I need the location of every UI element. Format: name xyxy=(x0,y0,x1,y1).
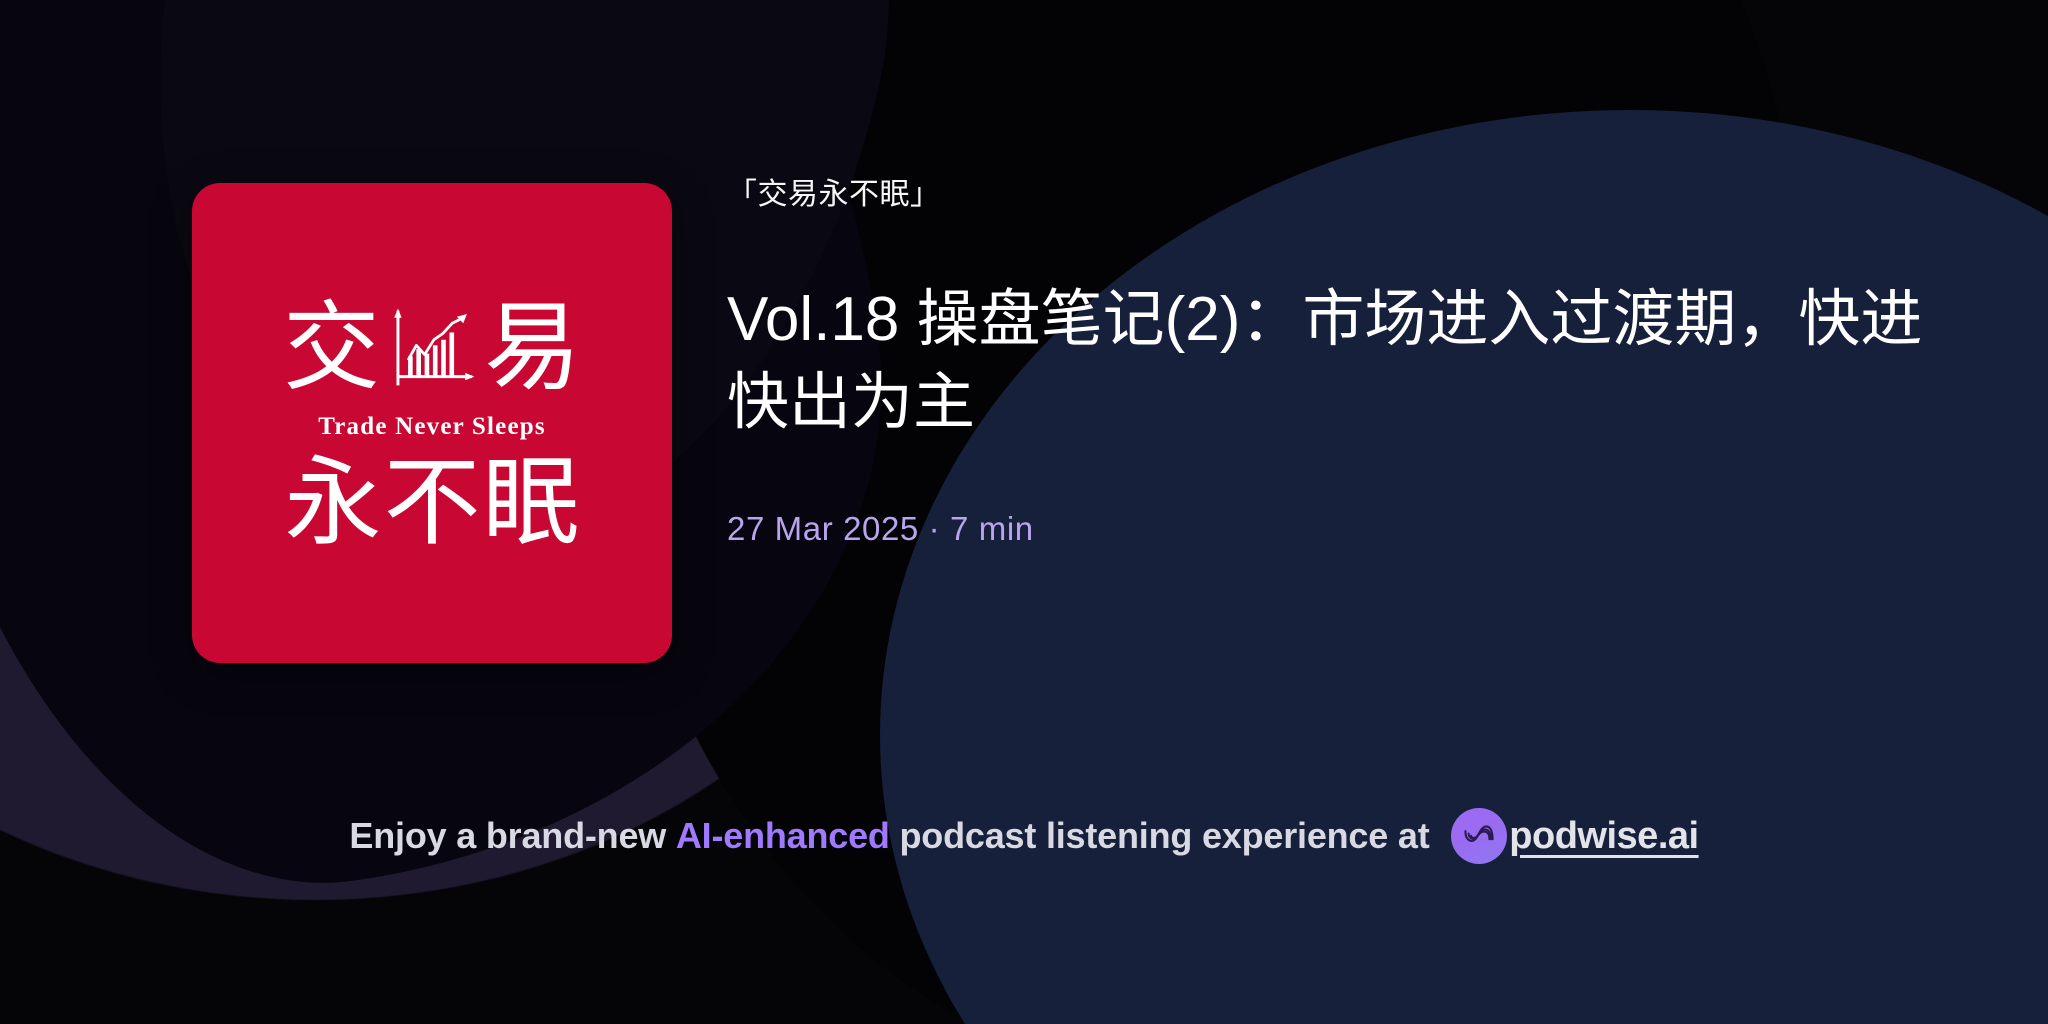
cover-char-yong: 永 xyxy=(285,455,382,552)
promo-banner: Enjoy a brand-new AI-enhanced podcast li… xyxy=(0,808,2048,864)
podcast-name[interactable]: 「交易永不眠」 xyxy=(727,175,1957,214)
cover-char-yi: 易 xyxy=(484,300,581,397)
promo-text-accent: AI-enhanced xyxy=(676,815,890,857)
podwise-wave-logo-icon[interactable] xyxy=(1451,808,1507,864)
promo-text-after: podcast listening experience at xyxy=(890,815,1440,857)
cover-char-jiao: 交 xyxy=(283,300,380,397)
cover-top-row: 交 xyxy=(283,300,581,397)
podwise-wordmark[interactable]: podwise.ai xyxy=(1509,815,1698,858)
cover-bottom-row: 永 不 眠 xyxy=(285,455,580,552)
cover-char-bu: 不 xyxy=(384,455,481,552)
podcast-share-card: 交 xyxy=(0,0,2048,1024)
episode-duration: 7 min xyxy=(950,510,1034,547)
bar-chart-trend-icon xyxy=(386,303,478,395)
episode-date: 27 Mar 2025 xyxy=(727,510,919,547)
promo-text-before: Enjoy a brand-new xyxy=(349,815,675,857)
meta-separator: · xyxy=(919,510,950,547)
cover-tagline: Trade Never Sleeps xyxy=(318,413,546,441)
cover-char-mian: 眠 xyxy=(483,455,580,552)
episode-meta: 27 Mar 2025 · 7 min xyxy=(727,510,1957,548)
episode-info-block: 「交易永不眠」 Vol.18 操盘笔记(2)：市场进入过渡期，快进快出为主 27… xyxy=(727,175,1957,548)
episode-title[interactable]: Vol.18 操盘笔记(2)：市场进入过渡期，快进快出为主 xyxy=(727,278,1942,444)
podcast-cover-art[interactable]: 交 xyxy=(192,183,672,663)
